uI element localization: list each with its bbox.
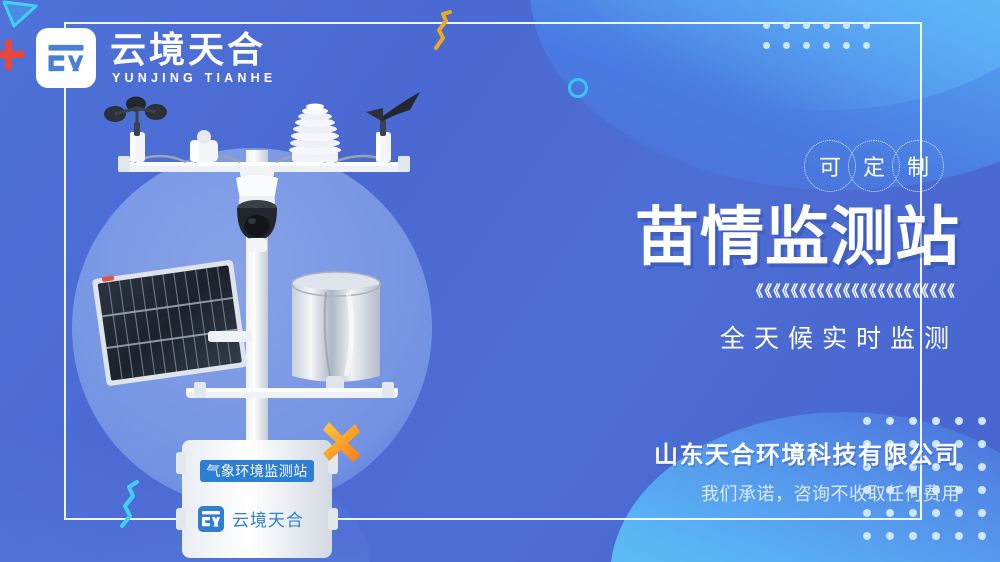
orange-x-icon bbox=[316, 416, 368, 468]
orange-zigzag-icon bbox=[430, 10, 464, 52]
promise-text: 我们承诺，咨询不收取任何费用 bbox=[701, 480, 960, 506]
badge-customizable-3: 制 bbox=[892, 140, 944, 192]
svg-text:云境天合: 云境天合 bbox=[232, 511, 304, 530]
red-plus-icon bbox=[0, 40, 24, 70]
company-name: 山东天合环境科技有限公司 bbox=[654, 435, 960, 470]
page-title: 苗情监测站 bbox=[635, 202, 960, 274]
promo-banner: 云境天合 YUNJING TIANHE bbox=[0, 0, 1000, 562]
brand-name-en: YUNJING TIANHE bbox=[110, 71, 276, 85]
brand-name-cn: 云境天合 bbox=[110, 31, 276, 69]
chevron-row-text: 《《《《《《《《《《《《《《《《《《《《《《《 bbox=[748, 284, 956, 299]
cyan-circle-outline-icon bbox=[568, 78, 588, 98]
headline-block: 可 定 制 苗情监测站 《《《《《《《《《《《《《《《《《《《《《《《 全天候实… bbox=[540, 140, 960, 506]
cyan-triangle-icon bbox=[0, 0, 40, 30]
subheading: 全天候实时监测 bbox=[720, 319, 960, 355]
weather-monitoring-station-icon: 气象环境监测站 云境天合 bbox=[90, 88, 440, 558]
customizable-badges: 可 定 制 bbox=[804, 140, 944, 192]
dot-grid-icon bbox=[763, 22, 870, 49]
brand-logo: 云境天合 YUNJING TIANHE bbox=[36, 28, 276, 88]
chevron-divider: 《《《《《《《《《《《《《《《《《《《《《《《 bbox=[748, 284, 956, 299]
yunjing-tianhe-logo-icon bbox=[36, 28, 96, 88]
svg-text:气象环境监测站: 气象环境监测站 bbox=[206, 463, 308, 479]
